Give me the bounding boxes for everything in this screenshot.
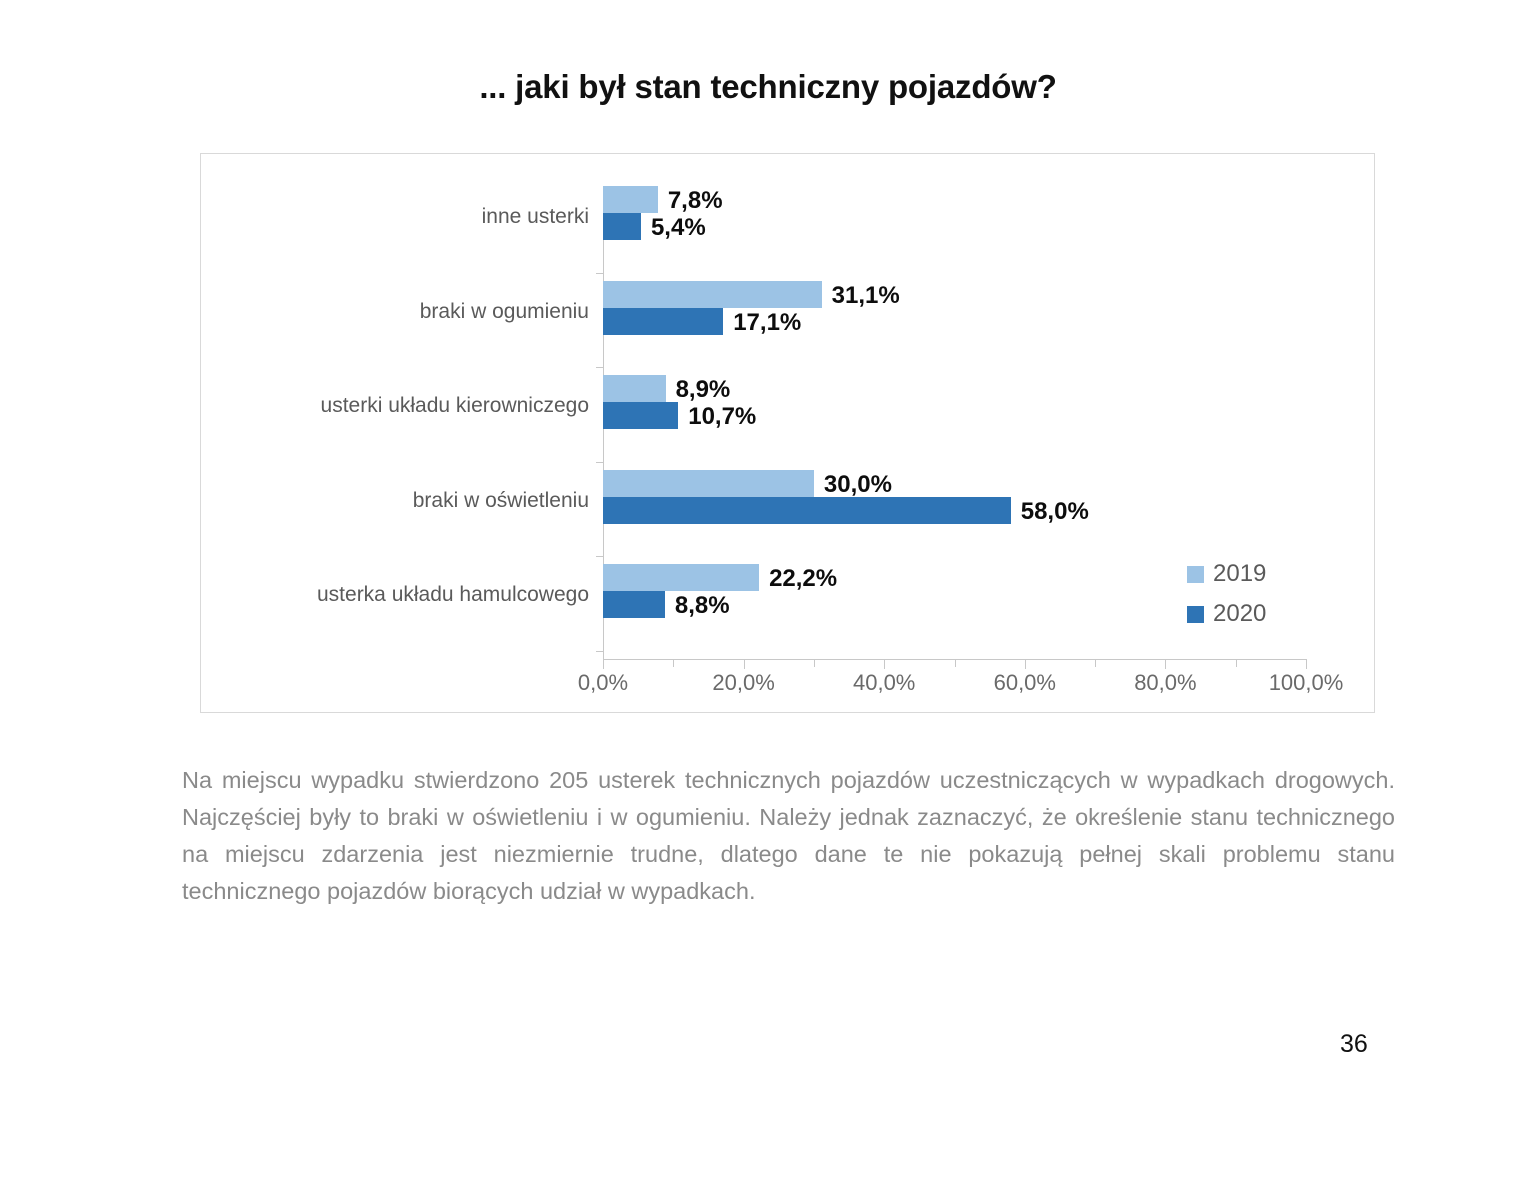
y-axis-tick xyxy=(596,651,603,652)
legend-swatch-icon-2020 xyxy=(1187,606,1204,623)
x-axis-label: 40,0% xyxy=(824,670,944,696)
x-axis-label: 80,0% xyxy=(1105,670,1225,696)
x-axis-label: 20,0% xyxy=(684,670,804,696)
legend-item-2019: 2019 xyxy=(1187,554,1266,594)
bar-2019-0 xyxy=(603,186,658,213)
bar-2020-3 xyxy=(603,497,1011,524)
chart-container: 0,0%20,0%40,0%60,0%80,0%100,0%inne uster… xyxy=(200,153,1375,713)
y-axis-tick xyxy=(596,367,603,368)
bar-value-label: 5,4% xyxy=(651,214,706,242)
legend-swatch-icon-2019 xyxy=(1187,566,1204,583)
category-label: braki w oświetleniu xyxy=(201,489,589,513)
bar-2020-0 xyxy=(603,213,641,240)
x-axis-tick xyxy=(955,660,956,667)
x-axis-tick xyxy=(1236,660,1237,667)
bar-2020-4 xyxy=(603,591,665,618)
bar-2020-1 xyxy=(603,308,723,335)
x-axis-tick xyxy=(603,660,604,669)
category-label: braki w ogumieniu xyxy=(201,300,589,324)
bar-value-label: 58,0% xyxy=(1021,498,1089,526)
x-axis-tick xyxy=(884,660,885,669)
body-paragraph: Na miejscu wypadku stwierdzono 205 uster… xyxy=(182,762,1395,910)
category-label: usterka układu hamulcowego xyxy=(201,583,589,607)
bar-value-label: 30,0% xyxy=(824,471,892,499)
bar-value-label: 7,8% xyxy=(668,187,723,215)
bar-2019-1 xyxy=(603,281,822,308)
x-axis-label: 100,0% xyxy=(1246,670,1366,696)
x-axis-tick xyxy=(673,660,674,667)
x-axis-tick xyxy=(1025,660,1026,669)
x-axis-label: 60,0% xyxy=(965,670,1085,696)
x-axis-tick xyxy=(1306,660,1307,669)
x-axis-label: 0,0% xyxy=(543,670,663,696)
category-label: inne usterki xyxy=(201,205,589,229)
bar-value-label: 8,9% xyxy=(676,376,731,404)
page-title: ... jaki był stan techniczny pojazdów? xyxy=(0,68,1536,106)
bar-2019-4 xyxy=(603,564,759,591)
legend-label-2019: 2019 xyxy=(1213,560,1266,588)
x-axis-tick xyxy=(1095,660,1096,667)
y-axis-tick xyxy=(596,273,603,274)
x-axis-tick xyxy=(744,660,745,669)
legend-label-2020: 2020 xyxy=(1213,600,1266,628)
y-axis-tick xyxy=(596,556,603,557)
bar-value-label: 8,8% xyxy=(675,592,730,620)
y-axis-tick xyxy=(596,462,603,463)
bar-value-label: 22,2% xyxy=(769,565,837,593)
bar-value-label: 17,1% xyxy=(733,309,801,337)
x-axis-tick xyxy=(1165,660,1166,669)
bar-2019-3 xyxy=(603,470,814,497)
bar-value-label: 10,7% xyxy=(688,403,756,431)
category-label: usterki układu kierowniczego xyxy=(201,394,589,418)
bar-value-label: 31,1% xyxy=(832,282,900,310)
bar-2019-2 xyxy=(603,375,666,402)
x-axis-tick xyxy=(814,660,815,667)
chart-legend: 2019 2020 xyxy=(1187,554,1266,634)
page-number: 36 xyxy=(1340,1030,1368,1059)
bar-2020-2 xyxy=(603,402,678,429)
legend-item-2020: 2020 xyxy=(1187,594,1266,634)
